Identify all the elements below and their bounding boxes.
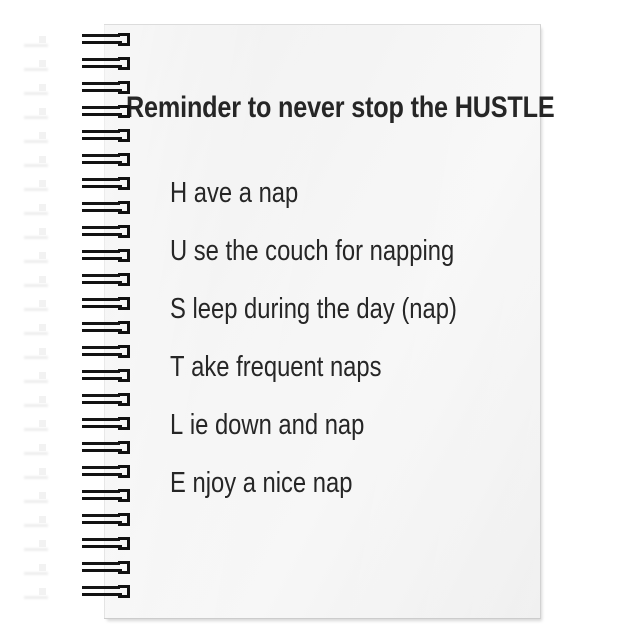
list-item: L ie down and nap [170,405,473,463]
list-item-initial: U [170,235,187,267]
coil-shadow [24,308,48,311]
coil-hook-inner [39,84,46,91]
coil-shadow [24,44,48,47]
coil-shadow [24,380,48,383]
coil-hook-inner [39,108,46,115]
coil-hook-inner [39,60,46,67]
list-item-text: ake frequent naps [191,351,381,383]
coil-shadow [24,476,48,479]
list-item-initial: L [170,409,183,441]
list-item-initial: E [170,467,186,499]
list-item-text: ie down and nap [190,409,365,441]
coil-shadow [24,260,48,263]
coil-shadow [24,92,48,95]
coil-shadow [24,68,48,71]
page-content: Reminder to never stop the HUSTLE H ave … [104,25,540,618]
coil-shadow [24,500,48,503]
coil-hook-inner [39,444,46,451]
coil-hook-inner [39,276,46,283]
coil-hook-inner [39,252,46,259]
list-item-initial: S [170,293,186,325]
coil-hook-inner [39,204,46,211]
coil-hook-inner [39,540,46,547]
coil-hook-inner [39,348,46,355]
coil-shadow [24,140,48,143]
coil-shadow [24,236,48,239]
coil-hook-inner [39,420,46,427]
coil-shadow [24,572,48,575]
list-item: T ake frequent naps [170,347,473,405]
coil-hook-inner [39,228,46,235]
coil-shadow [24,356,48,359]
list-item-initial: H [170,177,187,209]
list-item-text: njoy a nice nap [192,467,352,499]
coil-hook-inner [39,396,46,403]
coil-shadow [24,284,48,287]
coil-shadow [24,524,48,527]
coil-shadow [24,164,48,167]
notebook-page: Reminder to never stop the HUSTLE H ave … [104,24,541,619]
coil-shadow [24,212,48,215]
coil-hook-inner [39,564,46,571]
coil-shadow [24,116,48,119]
screenshot-canvas: Reminder to never stop the HUSTLE H ave … [0,0,644,644]
coil-hook-inner [39,300,46,307]
coil-shadow [24,428,48,431]
notebook-title: Reminder to never stop the HUSTLE [126,93,470,123]
coil-hook-inner [39,156,46,163]
coil-hook-inner [39,132,46,139]
coil-hook-inner [39,516,46,523]
coil-shadow [24,596,48,599]
coil-shadow [24,548,48,551]
coil-hook-inner [39,36,46,43]
coil-hook-inner [39,372,46,379]
list-item-initial: T [170,351,185,383]
coil-hook-inner [39,588,46,595]
coil-shadow [24,404,48,407]
list-item: U se the couch for napping [170,231,473,289]
acrostic-list: H ave a nap U se the couch for napping S… [170,173,540,521]
list-item-text: ave a nap [194,177,298,209]
coil-shadow [24,452,48,455]
list-item-text: se the couch for napping [194,235,454,267]
coil-hook-inner [39,492,46,499]
coil-shadow [24,332,48,335]
coil-hook-inner [39,180,46,187]
list-item: H ave a nap [170,173,473,231]
coil-hook-inner [39,468,46,475]
coil-shadow [24,188,48,191]
list-item: E njoy a nice nap [170,463,473,521]
list-item: S leep during the day (nap) [170,289,473,347]
list-item-text: leep during the day (nap) [192,293,456,325]
coil-hook-inner [39,324,46,331]
